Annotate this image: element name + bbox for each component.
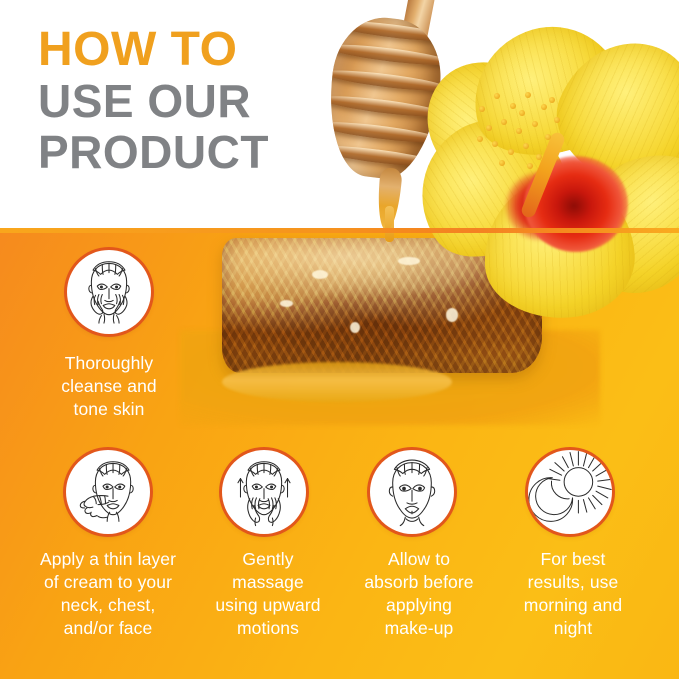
face-apply-cream-one-hand-icon: [66, 450, 150, 534]
step-caption-2: Apply a thin layer of cream to your neck…: [12, 548, 204, 640]
title-line-how-to: HOW TO: [38, 26, 338, 73]
face-plain-absorb-icon: [370, 450, 454, 534]
page-title: HOW TO USE OUR PRODUCT: [38, 26, 338, 175]
step-caption-4: Allow to absorb before applying make-up: [344, 548, 494, 640]
title-line-use-our: USE OUR: [38, 79, 338, 124]
title-line-product: PRODUCT: [38, 130, 338, 175]
panel-accent-stripe: [0, 228, 679, 233]
face-cleanse-two-hands-icon: [67, 250, 151, 334]
step-caption-3: Gently massage using upward motions: [188, 548, 348, 640]
how-to-use-poster: HOW TO USE OUR PRODUCT: [0, 0, 679, 679]
sun-and-moon-icon: [528, 450, 612, 534]
step-caption-5: For best results, use morning and night: [498, 548, 648, 640]
step-caption-1: Thoroughly cleanse and tone skin: [22, 352, 196, 421]
face-massage-upward-arrows-icon: [222, 450, 306, 534]
